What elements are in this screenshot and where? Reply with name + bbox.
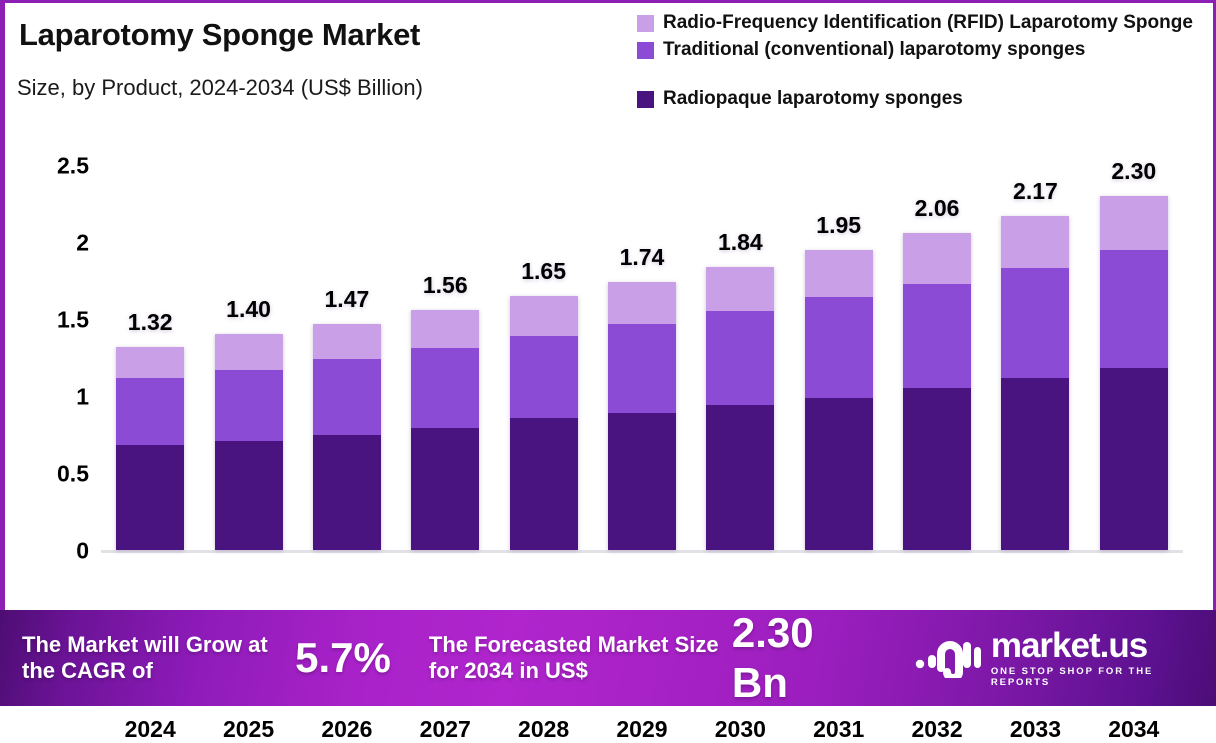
stacked-bar[interactable]: 2.30: [1100, 196, 1168, 550]
bar-segment[interactable]: [903, 284, 971, 389]
bar-column[interactable]: 1.56: [396, 165, 494, 550]
legend-item-label: Radiopaque laparotomy sponges: [663, 87, 963, 110]
bar-value-label: 2.06: [915, 195, 960, 222]
bar-segment[interactable]: [215, 334, 283, 369]
bar-column[interactable]: 1.32: [101, 165, 199, 550]
cagr-label: The Market will Grow at the CAGR of: [22, 632, 289, 684]
bar-segment[interactable]: [706, 267, 774, 312]
chart-plot-area: 00.511.522.5 1.321.401.471.561.651.741.8…: [101, 163, 1191, 553]
bar-segment[interactable]: [903, 233, 971, 284]
legend-item-rfid[interactable]: Radio-Frequency Identification (RFID) La…: [637, 11, 1213, 34]
bar-segment[interactable]: [805, 297, 873, 397]
brand-logo[interactable]: market.us ONE STOP SHOP FOR THE REPORTS: [915, 628, 1216, 688]
logo-tagline: ONE STOP SHOP FOR THE REPORTS: [991, 666, 1216, 688]
y-axis-tick: 1.5: [57, 307, 89, 334]
bar-segment[interactable]: [510, 418, 578, 550]
bar-segment[interactable]: [411, 348, 479, 428]
bar-segment[interactable]: [1100, 368, 1168, 550]
x-axis-tick: 2026: [298, 716, 396, 743]
bar-value-label: 1.84: [718, 229, 763, 256]
bar-column[interactable]: 1.47: [298, 165, 396, 550]
legend-item-traditional[interactable]: Traditional (conventional) laparotomy sp…: [637, 38, 1213, 61]
bar-segment[interactable]: [1001, 378, 1069, 550]
bar-value-label: 1.56: [423, 272, 468, 299]
x-axis-tick: 2031: [790, 716, 888, 743]
x-axis-tick: 2025: [199, 716, 297, 743]
stacked-bar[interactable]: 1.47: [313, 324, 381, 550]
bar-segment[interactable]: [116, 347, 184, 378]
stacked-bar[interactable]: 1.74: [608, 282, 676, 550]
legend-item-label: Radio-Frequency Identification (RFID) La…: [663, 11, 1193, 34]
bar-segment[interactable]: [1001, 268, 1069, 377]
bar-segment[interactable]: [903, 388, 971, 550]
bar-column[interactable]: 2.30: [1085, 165, 1183, 550]
bar-segment[interactable]: [1100, 196, 1168, 250]
stacked-bar[interactable]: 2.17: [1001, 216, 1069, 550]
logo-wordmark: market.us: [991, 628, 1216, 663]
footer-stats-bar: The Market will Grow at the CAGR of 5.7%…: [0, 610, 1216, 706]
bar-value-label: 1.74: [620, 244, 665, 271]
bar-segment[interactable]: [706, 405, 774, 550]
bar-segment[interactable]: [608, 324, 676, 413]
x-axis-tick: 2034: [1085, 716, 1183, 743]
bar-segment[interactable]: [215, 441, 283, 550]
market-us-logo-icon: [915, 634, 981, 683]
stacked-bar[interactable]: 1.84: [706, 267, 774, 550]
bar-segment[interactable]: [1001, 216, 1069, 268]
x-axis-tick: 2029: [593, 716, 691, 743]
x-axis-tick: 2033: [986, 716, 1084, 743]
forecast-size-label: The Forecasted Market Size for 2034 in U…: [429, 632, 728, 684]
bar-value-label: 2.17: [1013, 178, 1058, 205]
bar-segment[interactable]: [608, 413, 676, 550]
bar-column[interactable]: 1.95: [790, 165, 888, 550]
y-axis-tick: 2.5: [57, 153, 89, 180]
bar-column[interactable]: 2.17: [986, 165, 1084, 550]
bar-column[interactable]: 1.65: [494, 165, 592, 550]
logo-text: market.us ONE STOP SHOP FOR THE REPORTS: [991, 628, 1216, 688]
y-axis-tick: 0: [76, 538, 89, 565]
chart-legend: Radio-Frequency Identification (RFID) La…: [637, 11, 1213, 113]
bar-segment[interactable]: [510, 336, 578, 418]
bar-segment[interactable]: [313, 324, 381, 359]
forecast-size-value: 2.30 Bn: [732, 610, 881, 706]
bar-segment[interactable]: [116, 378, 184, 446]
infographic-canvas: Laparotomy Sponge Market Size, by Produc…: [0, 0, 1216, 706]
x-axis-baseline: [101, 550, 1183, 553]
x-axis-tick: 2030: [691, 716, 789, 743]
bar-segment[interactable]: [411, 428, 479, 550]
y-axis-tick: 0.5: [57, 461, 89, 488]
cagr-value: 5.7%: [295, 633, 391, 683]
bar-segment[interactable]: [805, 398, 873, 550]
bar-segment[interactable]: [608, 282, 676, 324]
y-axis-tick: 2: [76, 230, 89, 257]
bar-segment[interactable]: [313, 359, 381, 434]
stacked-bar[interactable]: 2.06: [903, 233, 971, 550]
bar-value-label: 1.40: [226, 296, 271, 323]
legend-item-label: Traditional (conventional) laparotomy sp…: [663, 38, 1085, 61]
legend-swatch-icon: [637, 91, 654, 108]
x-axis-tick: 2024: [101, 716, 199, 743]
page-subtitle: Size, by Product, 2024-2034 (US$ Billion…: [17, 75, 423, 101]
bar-segment[interactable]: [116, 445, 184, 550]
x-axis-tick: 2032: [888, 716, 986, 743]
legend-item-radiopaque[interactable]: Radiopaque laparotomy sponges: [637, 87, 1213, 110]
legend-swatch-icon: [637, 42, 654, 59]
bar-segment[interactable]: [215, 370, 283, 441]
bar-value-label: 2.30: [1111, 158, 1156, 185]
bar-segment[interactable]: [805, 250, 873, 298]
stacked-bar[interactable]: 1.65: [510, 296, 578, 550]
stacked-bar[interactable]: 1.40: [215, 334, 283, 550]
y-axis-tick: 1: [76, 384, 89, 411]
stacked-bar[interactable]: 1.32: [116, 347, 184, 550]
bar-segment[interactable]: [411, 310, 479, 349]
stacked-bar[interactable]: 1.56: [411, 310, 479, 550]
legend-swatch-icon: [637, 15, 654, 32]
x-axis-tick: 2027: [396, 716, 494, 743]
bar-segment[interactable]: [313, 435, 381, 551]
bar-segment[interactable]: [706, 311, 774, 405]
bar-column[interactable]: 2.06: [888, 165, 986, 550]
bar-value-label: 1.47: [325, 286, 370, 313]
x-axis-labels: 2024202520262027202820292030203120322033…: [101, 716, 1183, 743]
bar-value-label: 1.65: [521, 258, 566, 285]
x-axis-tick: 2028: [494, 716, 592, 743]
bar-value-label: 1.32: [128, 309, 173, 336]
bar-segment[interactable]: [1100, 250, 1168, 369]
bar-column[interactable]: 1.84: [691, 165, 789, 550]
stacked-bar[interactable]: 1.95: [805, 250, 873, 550]
page-title: Laparotomy Sponge Market: [19, 17, 420, 53]
bar-column[interactable]: 1.74: [593, 165, 691, 550]
bar-value-label: 1.95: [816, 212, 861, 239]
bar-segment[interactable]: [510, 296, 578, 336]
bar-column[interactable]: 1.40: [199, 165, 297, 550]
bar-series-group: 1.321.401.471.561.651.741.841.952.062.17…: [101, 165, 1183, 550]
